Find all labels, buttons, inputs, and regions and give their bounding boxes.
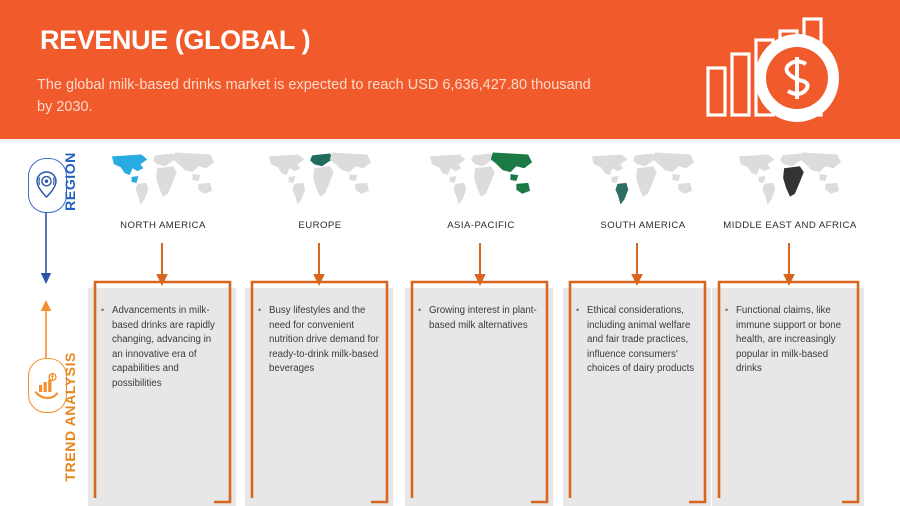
hand-holding-chart-icon <box>33 368 61 400</box>
header-subtitle: The global milk-based drinks market is e… <box>37 74 597 118</box>
region-label: NORTH AMERICA <box>88 220 238 231</box>
header-divider <box>0 139 900 142</box>
card-bullet-list: Ethical considerations, including animal… <box>573 304 697 377</box>
world-map-middle-east-africa-icon <box>735 150 845 208</box>
bar-chart-dollar-icon <box>700 12 865 127</box>
world-map-south-america-icon <box>588 150 698 208</box>
card-bullet-list: Advancements in milk-based drinks are ra… <box>98 304 222 392</box>
trend-card[interactable]: Ethical considerations, including animal… <box>563 288 711 506</box>
trend-card[interactable]: Growing interest in plant-based milk alt… <box>405 288 553 506</box>
sidebar-label-region: REGION <box>62 152 78 211</box>
region-label: MIDDLE EAST AND AFRICA <box>715 220 865 231</box>
card-bullet: Ethical considerations, including animal… <box>587 304 697 377</box>
world-map-europe-icon <box>265 150 375 208</box>
trend-card[interactable]: Busy lifestyles and the need for conveni… <box>245 288 393 506</box>
card-bullet: Functional claims, like immune support o… <box>736 304 850 377</box>
card-bullet: Busy lifestyles and the need for conveni… <box>269 304 379 377</box>
card-bullet-list: Functional claims, like immune support o… <box>722 304 850 377</box>
arrow-down-icon <box>154 243 170 288</box>
card-bullet: Growing interest in plant-based milk alt… <box>429 304 539 333</box>
arrow-down-icon <box>311 243 327 288</box>
region-column: NORTH AMERICA <box>88 150 238 231</box>
region-label: ASIA-PACIFIC <box>406 220 556 231</box>
region-column: EUROPE <box>245 150 395 231</box>
arrow-down-icon <box>781 243 797 288</box>
arrow-down-icon <box>472 243 488 288</box>
region-column: SOUTH AMERICA <box>568 150 718 231</box>
card-bullet-list: Growing interest in plant-based milk alt… <box>415 304 539 333</box>
trend-card[interactable]: Functional claims, like immune support o… <box>712 288 864 506</box>
card-bullet: Advancements in milk-based drinks are ra… <box>112 304 222 392</box>
arrow-down-icon <box>39 212 53 287</box>
arrow-up-icon <box>39 300 53 362</box>
region-label: EUROPE <box>245 220 395 231</box>
region-column: MIDDLE EAST AND AFRICA <box>715 150 865 231</box>
region-label: SOUTH AMERICA <box>568 220 718 231</box>
infographic-canvas: REVENUE (GLOBAL ) The global milk-based … <box>0 0 900 506</box>
world-map-asia-pacific-icon <box>426 150 536 208</box>
arrow-down-icon <box>629 243 645 288</box>
header-banner: REVENUE (GLOBAL ) The global milk-based … <box>0 0 900 139</box>
card-bullet-list: Busy lifestyles and the need for conveni… <box>255 304 379 377</box>
location-pin-icon <box>33 168 60 201</box>
world-map-north-america-icon <box>108 150 218 208</box>
page-title: REVENUE (GLOBAL ) <box>40 25 310 56</box>
region-column: ASIA-PACIFIC <box>406 150 556 231</box>
trend-card[interactable]: Advancements in milk-based drinks are ra… <box>88 288 236 506</box>
sidebar-label-trend: TREND ANALYSIS <box>62 352 78 482</box>
